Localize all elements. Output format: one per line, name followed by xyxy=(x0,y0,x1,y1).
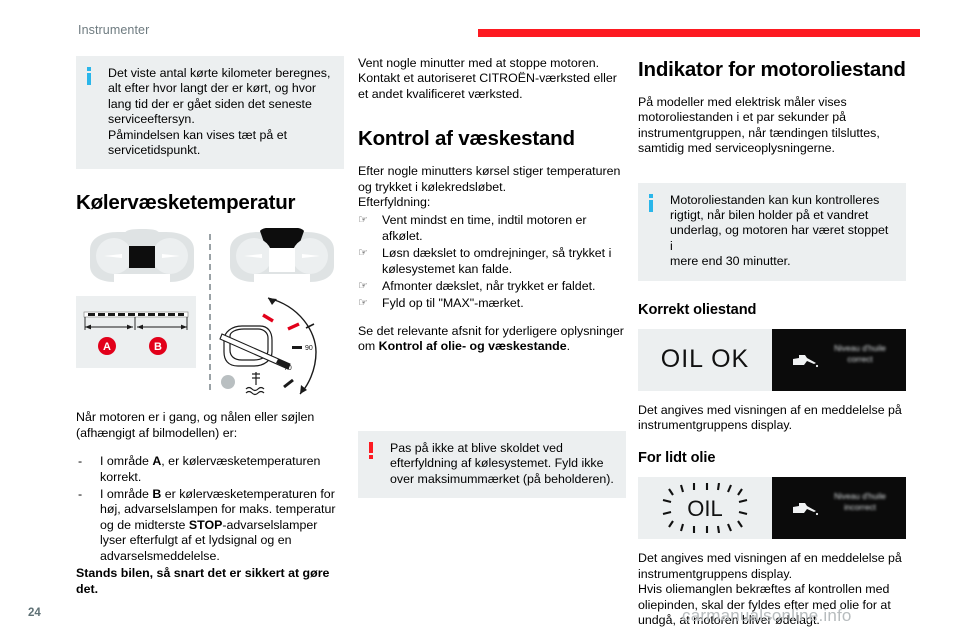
info-note-service: Det viste antal kørte kilometer beregnes… xyxy=(76,56,344,169)
note-line: serviceeftersyn. xyxy=(108,112,332,127)
cross-reference-text: Se det relevante afsnit for yderligere o… xyxy=(358,324,626,355)
info-note-body: Motoroliestanden kan kun kontrolleres ri… xyxy=(650,193,894,270)
note-line: Pas på ikke at blive skoldet ved xyxy=(390,441,614,456)
oil-low-label: OIL xyxy=(687,496,722,521)
section-heading-fluid-check: Kontrol af væskestand xyxy=(358,127,626,151)
figure-divider xyxy=(209,234,211,390)
manual-page: Instrumenter Det viste antal kørte kilom… xyxy=(0,0,960,640)
fluid-check-para-2: Efterfyldning: xyxy=(358,195,626,210)
screen-message-correct: Niveau d'huile correct xyxy=(821,343,899,365)
figure-coolant-temperature: A B xyxy=(76,228,344,400)
list-item-text: Afmonter dækslet, når trykket er faldet. xyxy=(382,279,595,293)
instrument-cluster-needle-icon xyxy=(224,228,340,288)
note-line: Påmindelsen kan vises tæt på et xyxy=(108,128,332,143)
pointing-hand-icon: ☞ xyxy=(358,296,376,311)
oil-blinking-icon: OIL xyxy=(657,483,753,533)
note-line: servicetidspunkt. xyxy=(108,143,332,158)
oil-low-tell-tale: OIL xyxy=(638,477,772,539)
list-item-text: Vent mindst en time, indtil motoren er a… xyxy=(382,213,587,242)
subheading-low-oil-level: For lidt olie xyxy=(638,449,906,467)
note-line: underlag, og motoren har været stoppet i xyxy=(670,223,894,254)
cluster-screen-correct: Niveau d'huile correct xyxy=(772,329,906,391)
list-item-text: I område A, er kølervæsketemperaturen ko… xyxy=(100,454,320,483)
cluster-screen-incorrect: Niveau d'huile incorrect xyxy=(772,477,906,539)
section-heading-coolant-temp: Kølervæsketemperatur xyxy=(76,191,344,215)
list-item-text: I område B er kølervæsketemperaturen for… xyxy=(100,487,336,563)
figure-oil-level-correct: OIL OK Niveau d'huile correct xyxy=(638,329,906,391)
figure-oil-level-low: OIL Niveau d'huile incorrect xyxy=(638,477,906,539)
column-left: Det viste antal kørte kilometer beregnes… xyxy=(76,56,344,597)
list-item: ☞ Vent mindst en time, indtil motoren er… xyxy=(358,213,626,244)
note-line: efterfyldning af kølesystemet. Fyld ikke xyxy=(390,456,614,471)
site-watermark: carmanualsonline.info xyxy=(682,606,852,626)
instrument-cluster-bar-icon xyxy=(84,228,200,288)
column-middle: Vent nogle minutter med at stoppe motore… xyxy=(358,56,626,498)
oil-low-caption-1: Det angives med visningen af en meddelel… xyxy=(638,551,906,582)
dash-marker: - xyxy=(78,487,96,502)
coolant-intro-text: Når motoren er i gang, og nålen eller sø… xyxy=(76,410,344,441)
oil-indicator-intro: På modeller med elektrisk måler vises mo… xyxy=(638,95,906,157)
coolant-zone-list: - I område A, er kølervæsketemperaturen … xyxy=(76,454,344,564)
info-note-body: Det viste antal kørte kilometer beregnes… xyxy=(88,66,332,158)
list-item: ☞ Afmonter dækslet, når trykket er falde… xyxy=(358,279,626,294)
stop-engine-text: Vent nogle minutter med at stoppe motore… xyxy=(358,56,626,102)
svg-text:A: A xyxy=(103,341,111,353)
list-item-text: Fyld op til "MAX"-mærket. xyxy=(382,296,524,310)
oil-can-icon xyxy=(790,351,820,369)
topup-steps-list: ☞ Vent mindst en time, indtil motoren er… xyxy=(358,213,626,311)
page-header: Instrumenter xyxy=(0,0,960,46)
note-line: Det viste antal kørte kilometer beregnes… xyxy=(108,66,332,81)
pointing-hand-icon: ☞ xyxy=(358,246,376,261)
note-line: rigtigt, når bilen holder på et vandret xyxy=(670,208,894,223)
page-number: 24 xyxy=(28,607,41,619)
note-line: alt efter hvor langt der er kørt, og hvo… xyxy=(108,81,332,96)
note-line: over maksimummærket (på beholderen). xyxy=(390,472,614,487)
list-item: - I område A, er kølervæsketemperaturen … xyxy=(76,454,344,485)
note-line: Motoroliestanden kan kun kontrolleres xyxy=(670,193,894,208)
svg-text:B: B xyxy=(154,341,162,353)
column-right: Indikator for motoroliestand På modeller… xyxy=(638,56,906,629)
list-item: - I område B er kølervæsketemperaturen f… xyxy=(76,487,344,564)
oil-correct-caption: Det angives med visningen af en meddelel… xyxy=(638,403,906,434)
oil-can-icon xyxy=(790,499,820,517)
bar-gauge-figure: A B xyxy=(76,296,196,368)
subheading-correct-oil-level: Korrekt oliestand xyxy=(638,301,906,319)
warning-note-body: Pas på ikke at blive skoldet ved efterfy… xyxy=(370,441,614,487)
pointing-hand-icon: ☞ xyxy=(358,213,376,228)
oil-ok-tell-tale: OIL OK xyxy=(638,329,772,391)
warning-note-scalding: Pas på ikke at blive skoldet ved efterfy… xyxy=(358,431,626,498)
warning-icon xyxy=(369,442,374,459)
note-line: lang tid der er gået siden det seneste xyxy=(108,97,332,112)
dash-marker: - xyxy=(78,454,96,469)
breadcrumb: Instrumenter xyxy=(78,23,149,37)
coolant-temperature-icon xyxy=(246,372,264,395)
info-note-oil-level: Motoroliestanden kan kun kontrolleres ri… xyxy=(638,183,906,281)
bar-gauge-diagram: A B xyxy=(76,296,196,368)
list-item: ☞ Fyld op til "MAX"-mærket. xyxy=(358,296,626,311)
info-icon xyxy=(649,194,654,212)
list-item: ☞ Løsn dækslet to omdrejninger, så trykk… xyxy=(358,246,626,277)
list-item-text: Løsn dækslet to omdrejninger, så trykket… xyxy=(382,246,611,275)
coolant-closing-text: Stands bilen, så snart det er sikkert at… xyxy=(76,566,344,597)
needle-gauge-diagram: 90 70 xyxy=(216,290,344,400)
note-line: mere end 30 minutter. xyxy=(670,254,894,269)
section-heading-oil-indicator: Indikator for motoroliestand xyxy=(638,58,906,82)
gauge-tick-label-90: 90 xyxy=(305,345,313,352)
fluid-check-para-1: Efter nogle minutters kørsel stiger temp… xyxy=(358,164,626,195)
screen-message-incorrect: Niveau d'huile incorrect xyxy=(821,491,899,513)
pointing-hand-icon: ☞ xyxy=(358,279,376,294)
info-icon xyxy=(87,67,92,85)
header-red-rule xyxy=(478,29,920,37)
oil-ok-label: OIL OK xyxy=(661,345,749,374)
